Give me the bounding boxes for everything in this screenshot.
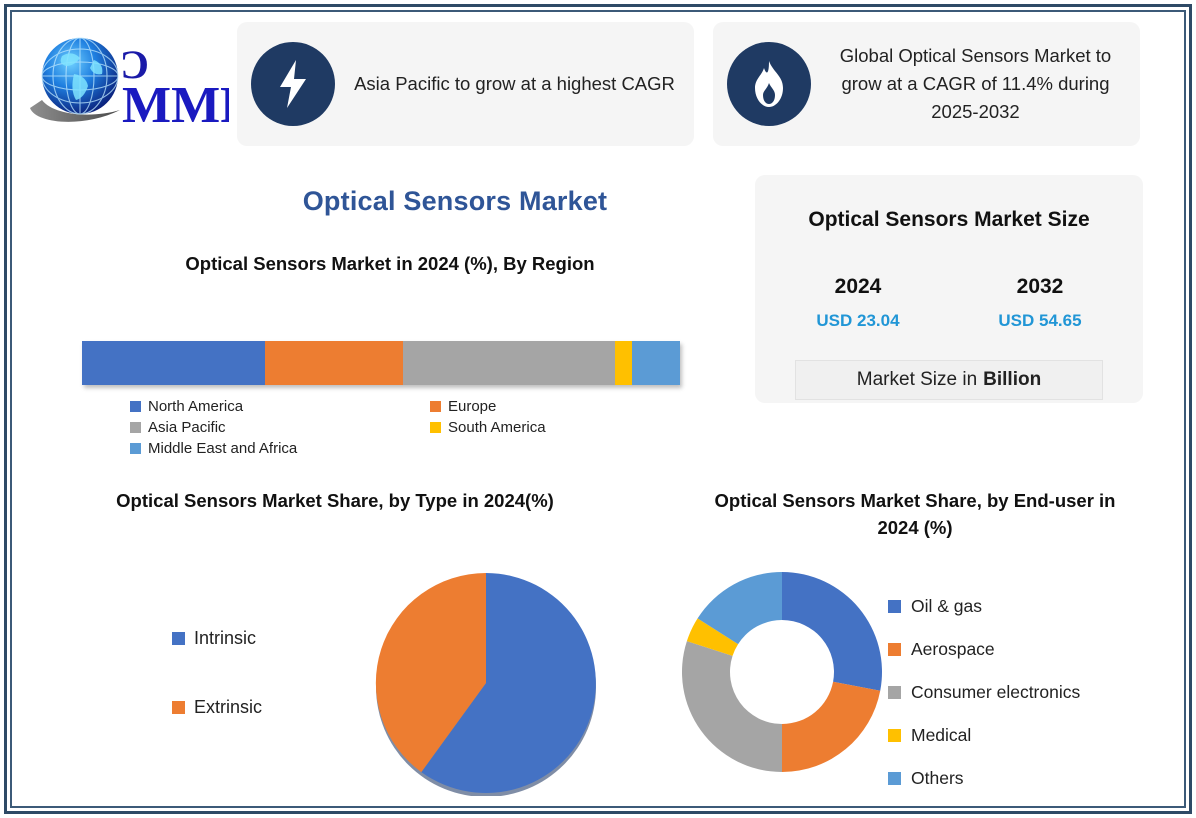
legend-swatch-icon bbox=[130, 443, 141, 454]
region-stacked-bar bbox=[82, 341, 680, 385]
legend-swatch-icon bbox=[130, 401, 141, 412]
legend-item-intrinsic: Intrinsic bbox=[172, 628, 262, 649]
market-size-unit: Billion bbox=[983, 369, 1041, 391]
legend-swatch-icon bbox=[888, 729, 901, 742]
market-size-value: USD 54.65 bbox=[965, 311, 1115, 331]
end-user-legend: Oil & gas Aerospace Consumer electronics… bbox=[888, 596, 1080, 811]
legend-swatch-icon bbox=[888, 600, 901, 613]
region-chart-title: Optical Sensors Market in 2024 (%), By R… bbox=[60, 253, 720, 275]
lightning-bolt-icon bbox=[251, 42, 335, 126]
legend-label: Europe bbox=[448, 398, 496, 415]
end-user-donut-chart bbox=[677, 552, 887, 797]
market-size-year: 2024 bbox=[783, 275, 933, 299]
legend-label: Medical bbox=[911, 725, 971, 746]
legend-item-medical: Medical bbox=[888, 725, 1080, 746]
type-pie-chart bbox=[373, 570, 599, 801]
bar-segment-north-america bbox=[82, 341, 265, 385]
market-size-title: Optical Sensors Market Size bbox=[755, 208, 1143, 232]
legend-item-aerospace: Aerospace bbox=[888, 639, 1080, 660]
header-card-1-text: Asia Pacific to grow at a highest CAGR bbox=[335, 70, 694, 98]
header-card-2-text: Global Optical Sensors Market to grow at… bbox=[811, 42, 1140, 125]
legend-label: Asia Pacific bbox=[148, 419, 226, 436]
logo-wordmark: MMR bbox=[122, 77, 229, 134]
bar-segment-south-america bbox=[615, 341, 632, 385]
donut-slice-aerospace bbox=[782, 682, 880, 772]
type-legend: Intrinsic Extrinsic bbox=[172, 628, 262, 766]
legend-swatch-icon bbox=[172, 701, 185, 714]
header-card-cagr: Global Optical Sensors Market to grow at… bbox=[713, 22, 1140, 146]
page-title: Optical Sensors Market bbox=[150, 186, 760, 217]
header-card-asia-pacific: Asia Pacific to grow at a highest CAGR bbox=[237, 22, 694, 146]
type-chart-title: Optical Sensors Market Share, by Type in… bbox=[85, 488, 585, 515]
region-legend: North America Europe Asia Pacific South … bbox=[130, 398, 690, 461]
market-size-column-2024: 2024 USD 23.04 bbox=[783, 275, 933, 331]
bar-segment-asia-pacific bbox=[403, 341, 615, 385]
legend-label: Extrinsic bbox=[194, 697, 262, 718]
legend-label: North America bbox=[148, 398, 243, 415]
legend-swatch-icon bbox=[130, 422, 141, 433]
market-size-unit-prefix: Market Size in bbox=[857, 369, 977, 391]
legend-swatch-icon bbox=[430, 401, 441, 412]
market-size-column-2032: 2032 USD 54.65 bbox=[965, 275, 1115, 331]
legend-item-south-america: South America bbox=[430, 419, 546, 436]
legend-label: Oil & gas bbox=[911, 596, 982, 617]
market-size-unit-note: Market Size in Billion bbox=[795, 360, 1103, 400]
legend-item-north-america: North America bbox=[130, 398, 430, 415]
legend-item-consumer-electronics: Consumer electronics bbox=[888, 682, 1080, 703]
legend-swatch-icon bbox=[888, 686, 901, 699]
market-size-panel: Optical Sensors Market Size 2024 USD 23.… bbox=[755, 175, 1143, 403]
legend-item-oil-gas: Oil & gas bbox=[888, 596, 1080, 617]
legend-swatch-icon bbox=[888, 772, 901, 785]
legend-swatch-icon bbox=[172, 632, 185, 645]
globe-logo-icon: Ɔ MMR bbox=[24, 26, 229, 136]
legend-label: Consumer electronics bbox=[911, 682, 1080, 703]
bar-segment-middle-east-africa bbox=[632, 341, 680, 385]
legend-label: Others bbox=[911, 768, 964, 789]
legend-label: South America bbox=[448, 419, 546, 436]
legend-label: Middle East and Africa bbox=[148, 440, 297, 457]
mmr-logo[interactable]: Ɔ MMR bbox=[24, 26, 229, 136]
infographic-page: Ɔ MMR Asia Pacific to grow at a highest … bbox=[0, 0, 1196, 818]
donut-slice-oil-gas bbox=[782, 572, 882, 691]
legend-item-middle-east-africa: Middle East and Africa bbox=[130, 440, 430, 457]
legend-swatch-icon bbox=[430, 422, 441, 433]
flame-icon bbox=[727, 42, 811, 126]
donut-slice-consumer-electronics bbox=[682, 641, 782, 772]
market-size-year: 2032 bbox=[965, 275, 1115, 299]
market-size-value: USD 23.04 bbox=[783, 311, 933, 331]
legend-item-asia-pacific: Asia Pacific bbox=[130, 419, 430, 436]
legend-label: Aerospace bbox=[911, 639, 995, 660]
legend-label: Intrinsic bbox=[194, 628, 256, 649]
legend-swatch-icon bbox=[888, 643, 901, 656]
legend-item-europe: Europe bbox=[430, 398, 496, 415]
end-user-chart-title: Optical Sensors Market Share, by End-use… bbox=[700, 488, 1130, 542]
legend-item-extrinsic: Extrinsic bbox=[172, 697, 262, 718]
legend-item-others: Others bbox=[888, 768, 1080, 789]
bar-segment-europe bbox=[265, 341, 403, 385]
